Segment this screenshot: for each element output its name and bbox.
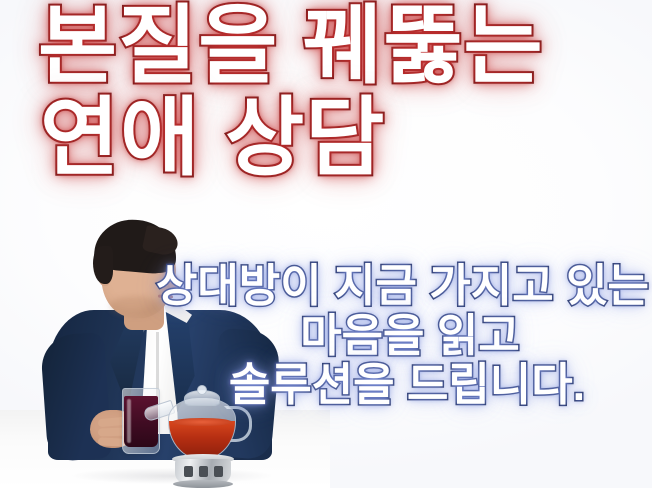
warmer-stand — [172, 454, 234, 488]
subtitle-line-2: 마음을 읽고 — [168, 312, 652, 360]
warmer-vent — [214, 466, 223, 477]
warmer-base — [173, 480, 233, 488]
subtitle: 상대방이 지금 가지고 있는 마음을 읽고 솔루션을 드립니다. — [150, 262, 652, 409]
headline-line-2: 연애 상담 — [40, 96, 628, 180]
warmer-vent — [199, 466, 208, 477]
headline: 본질을 꿰뚫는 연애 상담 — [28, 4, 628, 181]
hair-sideburn — [93, 246, 113, 284]
subtitle-line-1: 상대방이 지금 가지고 있는 — [156, 262, 652, 310]
tea-surface — [172, 418, 232, 426]
warmer-vent — [184, 466, 193, 477]
thumbnail-canvas: 본질을 꿰뚫는 연애 상담 상대방이 지금 가지고 있는 마음을 읽고 솔루션을… — [0, 0, 652, 488]
headline-line-1: 본질을 꿰뚫는 — [38, 4, 628, 88]
subtitle-line-3: 솔루션을 드립니다. — [162, 361, 652, 409]
glass-highlight — [127, 399, 131, 443]
